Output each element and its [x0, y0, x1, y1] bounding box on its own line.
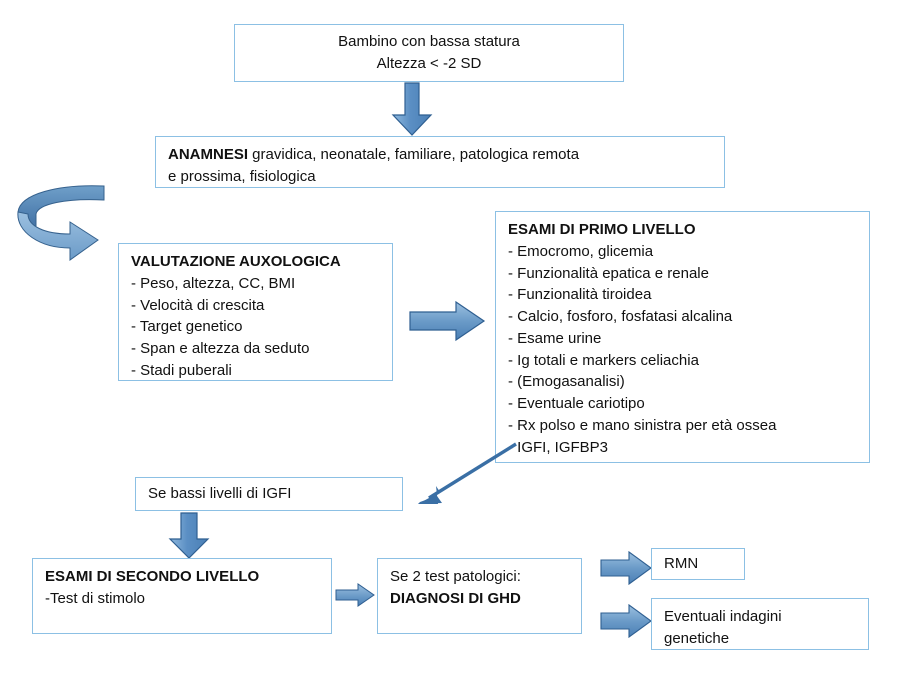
list-item: - IGFI, IGFBP3: [508, 437, 857, 459]
arrow-start-to-anamnesi: [389, 83, 435, 136]
list-item: - Rx polso e mano sinistra per età ossea: [508, 415, 857, 437]
list-item: - Calcio, fosforo, fosfatasi alcalina: [508, 306, 857, 328]
arrow-diagnosi-to-genetiche: [601, 603, 657, 639]
node-anamnesi: ANAMNESI gravidica, neonatale, familiare…: [155, 136, 725, 188]
node-se-bassi-livelli-igfi: Se bassi livelli di IGFI: [135, 477, 403, 511]
list-item: - Span e altezza da seduto: [131, 338, 380, 360]
node-indagini-genetiche: Eventuali indagini genetiche: [651, 598, 869, 650]
list-item: -Test di stimolo: [45, 588, 319, 610]
primo-livello-title: ESAMI DI PRIMO LIVELLO: [508, 219, 857, 241]
arrow-secondo-livello-to-diagnosi: [336, 581, 378, 609]
node-rmn: RMN: [651, 548, 745, 580]
flowchart-canvas: Bambino con bassa statura Altezza < -2 S…: [0, 0, 900, 684]
node-esami-primo-livello: ESAMI DI PRIMO LIVELLO - Emocromo, glice…: [495, 211, 870, 463]
bassi-livelli-text: Se bassi livelli di IGFI: [148, 483, 291, 505]
list-item: - Velocità di crescita: [131, 295, 380, 317]
node-valutazione-auxologica: VALUTAZIONE AUXOLOGICA - Peso, altezza, …: [118, 243, 393, 381]
start-line-2: Altezza < -2 SD: [247, 53, 611, 75]
primo-livello-list: - Emocromo, glicemia - Funzionalità epat…: [508, 241, 857, 459]
valutazione-list: - Peso, altezza, CC, BMI - Velocità di c…: [131, 273, 380, 382]
list-item: - (Emogasanalisi): [508, 371, 857, 393]
list-item: - Funzionalità tiroidea: [508, 284, 857, 306]
genetiche-line-2: genetiche: [664, 628, 856, 650]
anamnesi-line-1: ANAMNESI gravidica, neonatale, familiare…: [168, 144, 712, 166]
arrow-diagnosi-to-rmn: [601, 550, 657, 586]
arrow-bassi-livelli-to-secondo-livello: [167, 513, 213, 559]
arrow-valutazione-to-primo-livello: [410, 300, 490, 344]
anamnesi-line-2: e prossima, fisiologica: [168, 166, 712, 188]
genetiche-line-1: Eventuali indagini: [664, 606, 856, 628]
list-item: - Emocromo, glicemia: [508, 241, 857, 263]
secondo-livello-title: ESAMI DI SECONDO LIVELLO: [45, 566, 319, 588]
start-line-1: Bambino con bassa statura: [247, 31, 611, 53]
list-item: - Eventuale cariotipo: [508, 393, 857, 415]
list-item: - Esame urine: [508, 328, 857, 350]
anamnesi-rest: gravidica, neonatale, familiare, patolog…: [248, 146, 579, 163]
diagnosi-line-2: DIAGNOSI DI GHD: [390, 588, 569, 610]
node-bambino-bassa-statura: Bambino con bassa statura Altezza < -2 S…: [234, 24, 624, 82]
list-item: - Target genetico: [131, 316, 380, 338]
arrow-loop-back-to-valutazione: [14, 182, 126, 264]
valutazione-title: VALUTAZIONE AUXOLOGICA: [131, 251, 380, 273]
list-item: - Peso, altezza, CC, BMI: [131, 273, 380, 295]
list-item: - Funzionalità epatica e renale: [508, 263, 857, 285]
node-esami-secondo-livello: ESAMI DI SECONDO LIVELLO -Test di stimol…: [32, 558, 332, 634]
secondo-livello-list: -Test di stimolo: [45, 588, 319, 610]
list-item: - Stadi puberali: [131, 360, 380, 382]
diagnosi-line-1: Se 2 test patologici:: [390, 566, 569, 588]
list-item: - Ig totali e markers celiachia: [508, 350, 857, 372]
node-diagnosi-ghd: Se 2 test patologici: DIAGNOSI DI GHD: [377, 558, 582, 634]
rmn-text: RMN: [664, 553, 698, 575]
anamnesi-title: ANAMNESI: [168, 146, 248, 163]
